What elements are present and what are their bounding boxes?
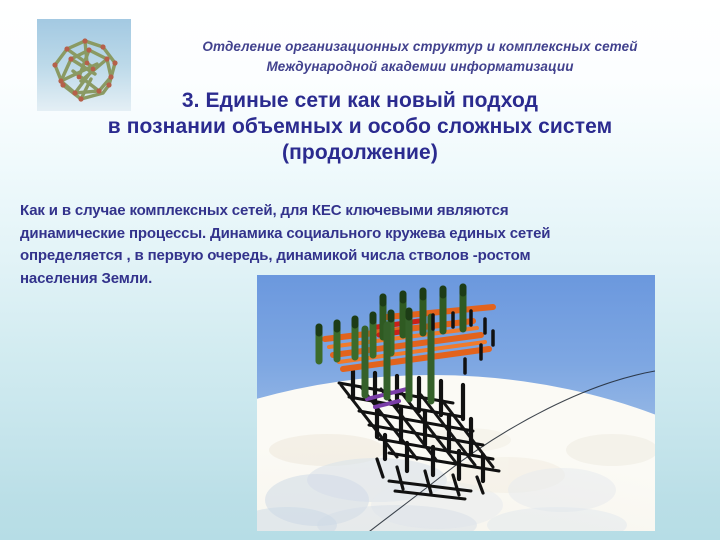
slide-title-line-2: в познании объемных и особо сложных сист… xyxy=(0,114,720,140)
body-line-2: динамические процессы. Динамика социальн… xyxy=(20,223,680,246)
organization-line-1: Отделение организационных структур и ком… xyxy=(145,39,695,54)
slide-title-line-3: (продолжение) xyxy=(0,140,720,166)
organization-line-2: Международной академии информатизации xyxy=(145,59,695,74)
body-line-3: определяется , в первую очередь, динамик… xyxy=(20,245,680,268)
network-over-earth-image xyxy=(257,275,655,531)
slide-title-line-1: 3. Единые сети как новый подход xyxy=(0,88,720,114)
slide-root: Отделение организационных структур и ком… xyxy=(0,0,720,540)
body-line-1: Как и в случае комплексных сетей, для КЕ… xyxy=(20,200,680,223)
